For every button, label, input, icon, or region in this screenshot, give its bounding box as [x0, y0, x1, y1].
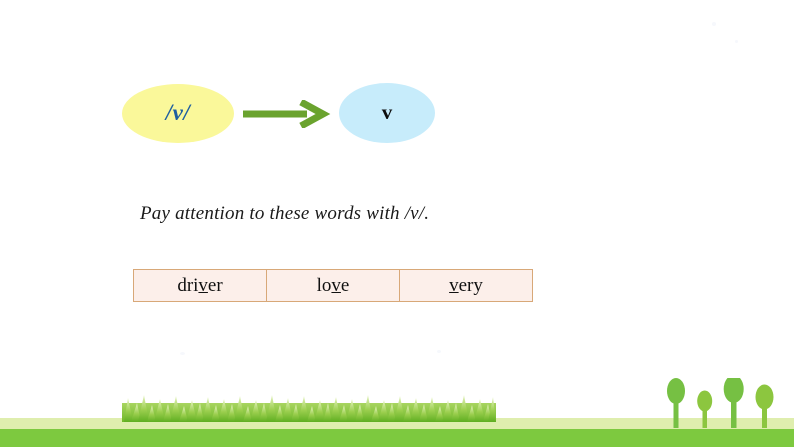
word-table: driver love very	[133, 269, 533, 302]
artifact-speck	[437, 350, 441, 353]
artifact-speck	[735, 40, 738, 43]
tree-icon	[756, 385, 774, 429]
tree-row	[662, 378, 788, 428]
word-cell-driver: driver	[134, 270, 267, 302]
letter-bubble-label: v	[382, 102, 393, 123]
word-cell-very: very	[400, 270, 533, 302]
word-part-after: er	[208, 275, 223, 296]
word-part-highlight: v	[198, 275, 208, 296]
slide-canvas: /v/ v Pay attention to these words with …	[0, 0, 794, 447]
word-part-before: lo	[317, 275, 332, 296]
letter-bubble: v	[339, 83, 435, 143]
tree-icon	[667, 378, 685, 428]
ground-band-green	[0, 429, 794, 447]
artifact-speck	[180, 352, 185, 355]
instruction-text: Pay attention to these words with /v/.	[140, 203, 429, 225]
word-cell-love: love	[267, 270, 400, 302]
grass-icon	[122, 394, 496, 422]
table-row: driver love very	[134, 270, 533, 302]
tree-icon	[697, 391, 712, 429]
sound-bubble: /v/	[122, 84, 234, 143]
word-part-highlight: v	[331, 275, 341, 296]
artifact-speck	[712, 22, 716, 26]
word-part-highlight: v	[449, 275, 459, 296]
word-part-after: e	[341, 275, 349, 296]
word-part-before: dri	[177, 275, 198, 296]
sound-bubble-label: /v/	[166, 101, 191, 124]
tree-icon	[724, 378, 744, 428]
word-part-after: ery	[459, 275, 483, 296]
arrow-right-icon	[243, 100, 335, 128]
